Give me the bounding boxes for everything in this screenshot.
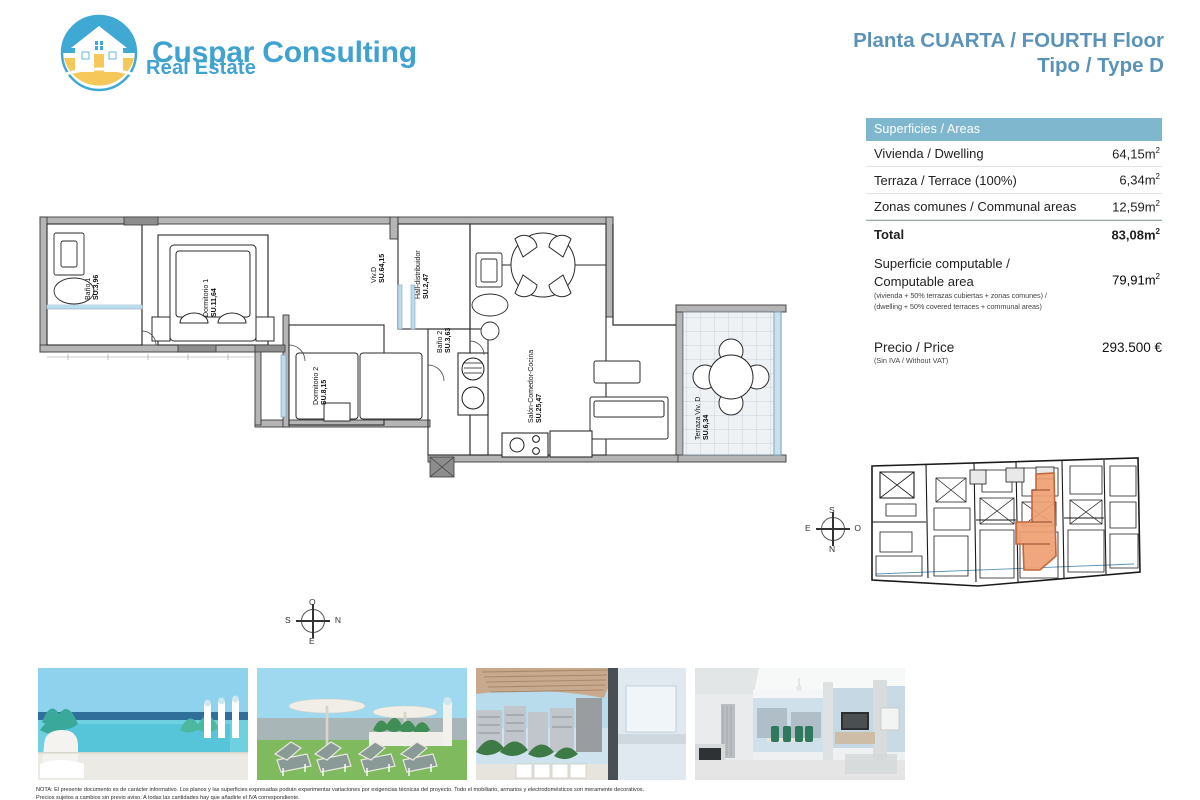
- floor-title-line: Planta CUARTA / FOURTH Floor: [853, 28, 1164, 53]
- room-label-hall: Hall-distribuidorSU.2,47: [415, 250, 430, 299]
- price-block: Precio / Price (Sin IVA / Without VAT) 2…: [874, 340, 1162, 365]
- computable-label-1: Superficie computable /: [874, 255, 1047, 273]
- row-label: Zonas comunes / Communal areas: [874, 199, 1076, 214]
- photo-sun-terrace: [257, 668, 467, 780]
- computable-area-row: Superficie computable / Computable area …: [866, 247, 1162, 312]
- compass-rose-floorplan: O N E S: [292, 600, 334, 642]
- areas-table: Superficies / Areas Vivienda / Dwelling …: [866, 118, 1162, 312]
- row-value: 12,59m2: [1112, 199, 1160, 214]
- computable-value: 79,91m2: [1112, 255, 1160, 287]
- photo-living-dining: [695, 668, 905, 780]
- footer-disclaimer: NOTA: El presente documento es de caráct…: [36, 786, 1166, 800]
- price-value: 293.500 €: [1102, 340, 1162, 355]
- row-label: Vivienda / Dwelling: [874, 146, 984, 161]
- compass-label-bottom: N: [829, 544, 835, 554]
- room-label-bano-1: Baño 1SU.3,96: [85, 275, 100, 300]
- page-title: Planta CUARTA / FOURTH Floor Tipo / Type…: [853, 28, 1164, 78]
- total-label: Total: [874, 227, 904, 242]
- compass-label-right: N: [335, 615, 341, 625]
- photo-infinity-pool: [38, 668, 248, 780]
- computable-note-2: (dwelling + 50% covered terraces + commu…: [874, 302, 1047, 312]
- compass-label-bottom: E: [309, 636, 315, 646]
- row-value: 6,34m2: [1119, 172, 1160, 187]
- price-label: Precio / Price: [874, 340, 954, 355]
- building-key-plan: [866, 452, 1146, 592]
- table-row: Vivienda / Dwelling 64,15m2: [866, 141, 1162, 167]
- table-row: Zonas comunes / Communal areas 12,59m2: [866, 194, 1162, 220]
- floor-plan-drawing: Baño 1SU.3,96 Dormitorio 1SU.11,64 Dormi…: [28, 205, 828, 605]
- type-title-line: Tipo / Type D: [853, 53, 1164, 78]
- photo-strip: [38, 668, 1163, 780]
- total-value: 83,08m2: [1111, 227, 1160, 242]
- computable-note-1: (vivienda + 50% terrazas cubiertas + zon…: [874, 291, 1047, 301]
- brand-subtitle: Real Estate: [146, 57, 256, 80]
- floorplan-brochure-page: Cuspar Consulting Real Estate Planta CUA…: [0, 0, 1200, 800]
- compass-label-right: O: [854, 523, 861, 533]
- brand-logo-block: Cuspar Consulting: [60, 14, 417, 92]
- areas-table-header: Superficies / Areas: [866, 118, 1162, 141]
- table-row-total: Total 83,08m2: [866, 220, 1162, 247]
- photo-covered-terrace: [476, 668, 686, 780]
- room-label-bano-2: Baño 2SU.3,63: [437, 328, 452, 353]
- footer-line-2: Precios sujetos a cambios sin previo avi…: [36, 794, 1166, 800]
- price-note: (Sin IVA / Without VAT): [874, 356, 954, 365]
- room-label-salon: Salón-Comedor-CocinaSU.25,47: [528, 350, 543, 423]
- footer-line-1: NOTA: El presente documento es de caráct…: [36, 786, 1166, 794]
- house-in-circle-logo-icon: [60, 14, 138, 92]
- row-value: 64,15m2: [1112, 146, 1160, 161]
- table-row: Terraza / Terrace (100%) 6,34m2: [866, 167, 1162, 193]
- compass-label-top: S: [829, 505, 835, 515]
- room-label-vivienda-d: Viv.DSU.64,15: [371, 254, 386, 283]
- compass-label-left: S: [285, 615, 291, 625]
- computable-label-2: Computable area: [874, 273, 1047, 291]
- row-label: Terraza / Terrace (100%): [874, 173, 1017, 188]
